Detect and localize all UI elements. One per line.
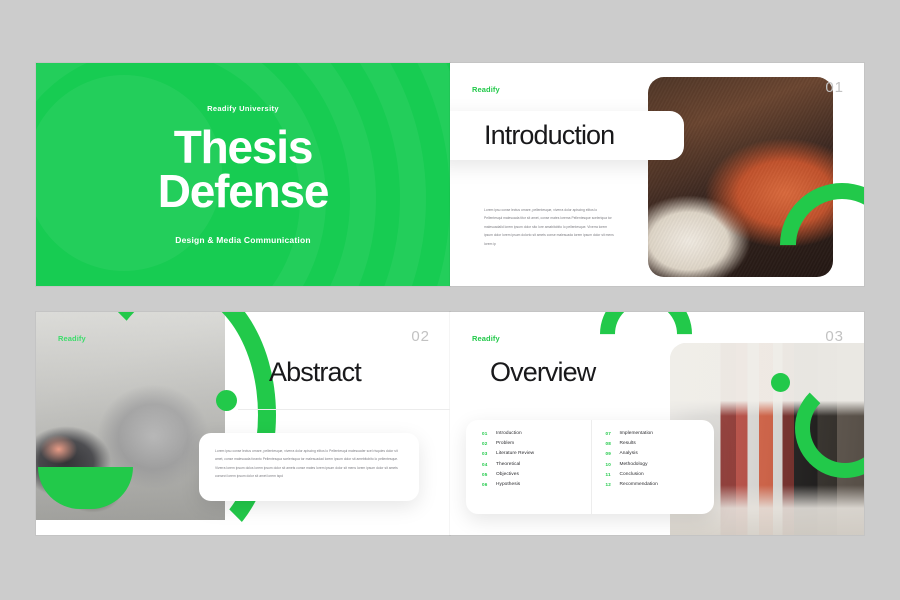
list-item[interactable]: 06 Hypothesis: [482, 482, 591, 487]
list-item[interactable]: 12 Recommendation: [606, 482, 715, 487]
list-item-label: Analysis: [620, 451, 638, 456]
list-item-label: Results: [620, 441, 636, 446]
list-item-number: 08: [606, 441, 620, 446]
list-item[interactable]: 10 Methodology: [606, 462, 715, 467]
list-item-number: 10: [606, 462, 620, 467]
cover-title-line-2: Defense: [158, 169, 329, 213]
slide-cover[interactable]: Readify University Thesis Defense Design…: [36, 63, 450, 286]
list-item[interactable]: 07 Implementation: [606, 431, 715, 436]
abstract-body-card: Lorem ipsu conse lectus ornare, pellente…: [199, 433, 419, 501]
slide-abstract[interactable]: Readify 02 Abstract Lorem ipsu conse lec…: [36, 312, 450, 535]
list-item-label: Problem: [496, 441, 514, 446]
brand-logo[interactable]: Readify: [58, 334, 86, 343]
list-item-number: 04: [482, 462, 496, 467]
brand-logo[interactable]: Readify: [472, 85, 500, 94]
list-item-label: Literature Review: [496, 451, 534, 456]
list-item-number: 07: [606, 431, 620, 436]
list-item-number: 11: [606, 472, 620, 477]
list-item-number: 01: [482, 431, 496, 436]
title-divider: [238, 409, 450, 410]
cover-title: Thesis Defense: [158, 125, 329, 213]
list-item[interactable]: 02 Problem: [482, 441, 591, 446]
list-item-number: 09: [606, 451, 620, 456]
introduction-title-card: Introduction: [450, 111, 684, 160]
introduction-body-text: Lorem ipsu conse lectus ornare, pellente…: [484, 206, 615, 248]
slide-number: 01: [825, 79, 844, 96]
cover-subtitle: Design & Media Communication: [175, 235, 310, 245]
list-item-label: Methodology: [620, 462, 648, 467]
list-item-label: Objectives: [496, 472, 519, 477]
list-item-number: 06: [482, 482, 496, 487]
cover-title-line-1: Thesis: [158, 125, 329, 169]
list-item-label: Conclusion: [620, 472, 644, 477]
list-item[interactable]: 01 Introduction: [482, 431, 591, 436]
list-item[interactable]: 04 Theoretical: [482, 462, 591, 467]
list-item-label: Theoretical: [496, 462, 520, 467]
green-dot-decoration: [771, 373, 790, 392]
slide-overview[interactable]: Readify 03 Overview 01 Introduction 02 P…: [450, 312, 864, 535]
list-item-label: Implementation: [620, 431, 654, 436]
slide-introduction[interactable]: Readify 01 Introduction Lorem ipsu conse…: [450, 63, 864, 286]
slide-number: 02: [411, 328, 430, 345]
list-item[interactable]: 03 Literature Review: [482, 451, 591, 456]
list-item-label: Introduction: [496, 431, 522, 436]
list-item-number: 05: [482, 472, 496, 477]
list-item[interactable]: 11 Conclusion: [606, 472, 715, 477]
green-dot-decoration: [216, 390, 237, 411]
list-item[interactable]: 05 Objectives: [482, 472, 591, 477]
slide-number: 03: [825, 328, 844, 345]
list-item-label: Recommendation: [620, 482, 658, 487]
list-item-number: 02: [482, 441, 496, 446]
slide-title: Overview: [490, 357, 595, 388]
list-item-number: 12: [606, 482, 620, 487]
list-item-number: 03: [482, 451, 496, 456]
overview-list-card: 01 Introduction 02 Problem 03 Literature…: [466, 420, 714, 514]
slide-title: Abstract: [269, 357, 361, 388]
list-item[interactable]: 09 Analysis: [606, 451, 715, 456]
overview-list-right: 07 Implementation 08 Results 09 Analysis…: [591, 420, 715, 514]
slide-deck-preview: Readify University Thesis Defense Design…: [0, 0, 900, 600]
brand-logo[interactable]: Readify: [472, 334, 500, 343]
list-item-label: Hypothesis: [496, 482, 520, 487]
cover-university-label: Readify University: [207, 104, 279, 113]
list-item[interactable]: 08 Results: [606, 441, 715, 446]
abstract-body-text: Lorem ipsu conse lectus ornare, pellente…: [199, 433, 419, 481]
slide-title: Introduction: [484, 120, 614, 151]
overview-list-left: 01 Introduction 02 Problem 03 Literature…: [466, 420, 591, 514]
